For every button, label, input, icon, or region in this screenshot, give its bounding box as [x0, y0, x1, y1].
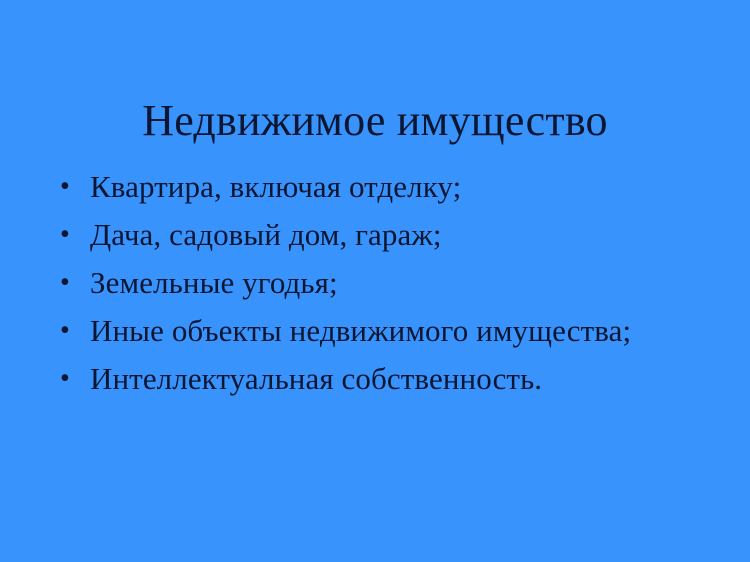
list-item: • Иные объекты недвижимого имущества; [60, 307, 730, 355]
list-item-label: Квартира, включая отделку; [90, 163, 730, 211]
list-item-label: Дача, садовый дом, гараж; [90, 211, 730, 259]
list-item: • Квартира, включая отделку; [60, 163, 730, 211]
bullet-dot-icon: • [60, 259, 90, 307]
list-item-label: Иные объекты недвижимого имущества; [90, 307, 730, 355]
list-item: • Интеллектуальная собственность. [60, 355, 730, 403]
list-item: • Земельные угодья; [60, 259, 730, 307]
bullet-dot-icon: • [60, 163, 90, 211]
bullet-dot-icon: • [60, 211, 90, 259]
list-item: • Дача, садовый дом, гараж; [60, 211, 730, 259]
presentation-slide: Недвижимое имущество • Квартира, включая… [0, 0, 750, 562]
bullet-dot-icon: • [60, 355, 90, 403]
slide-title: Недвижимое имущество [0, 95, 750, 147]
bullet-list: • Квартира, включая отделку; • Дача, сад… [60, 163, 730, 403]
list-item-label: Интеллектуальная собственность. [90, 355, 730, 403]
list-item-label: Земельные угодья; [90, 259, 730, 307]
bullet-dot-icon: • [60, 307, 90, 355]
